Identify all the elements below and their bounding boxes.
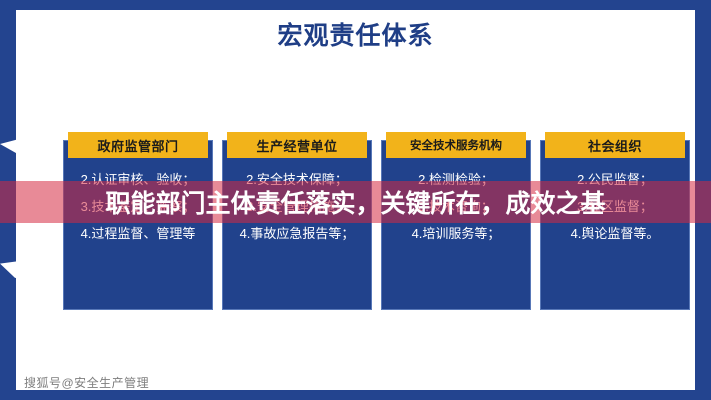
column-header-tab[interactable]: 社会组织 <box>545 132 685 158</box>
watermark-text: 搜狐号@安全生产管理 <box>24 374 149 391</box>
list-item: 4.培训服务等； <box>381 220 531 247</box>
column-header-tab[interactable]: 生产经营单位 <box>227 132 367 158</box>
column-header-tab[interactable]: 政府监管部门 <box>68 132 208 158</box>
list-item: 4.过程监督、管理等 <box>63 220 213 247</box>
list-item: 4.事故应急报告等； <box>222 220 372 247</box>
column-header-tab[interactable]: 安全技术服务机构 <box>386 132 526 158</box>
banner-headline: 职能部门主体责任落实，关键所在，成效之基 <box>0 181 711 223</box>
list-item: 4.舆论监督等。 <box>540 220 690 247</box>
